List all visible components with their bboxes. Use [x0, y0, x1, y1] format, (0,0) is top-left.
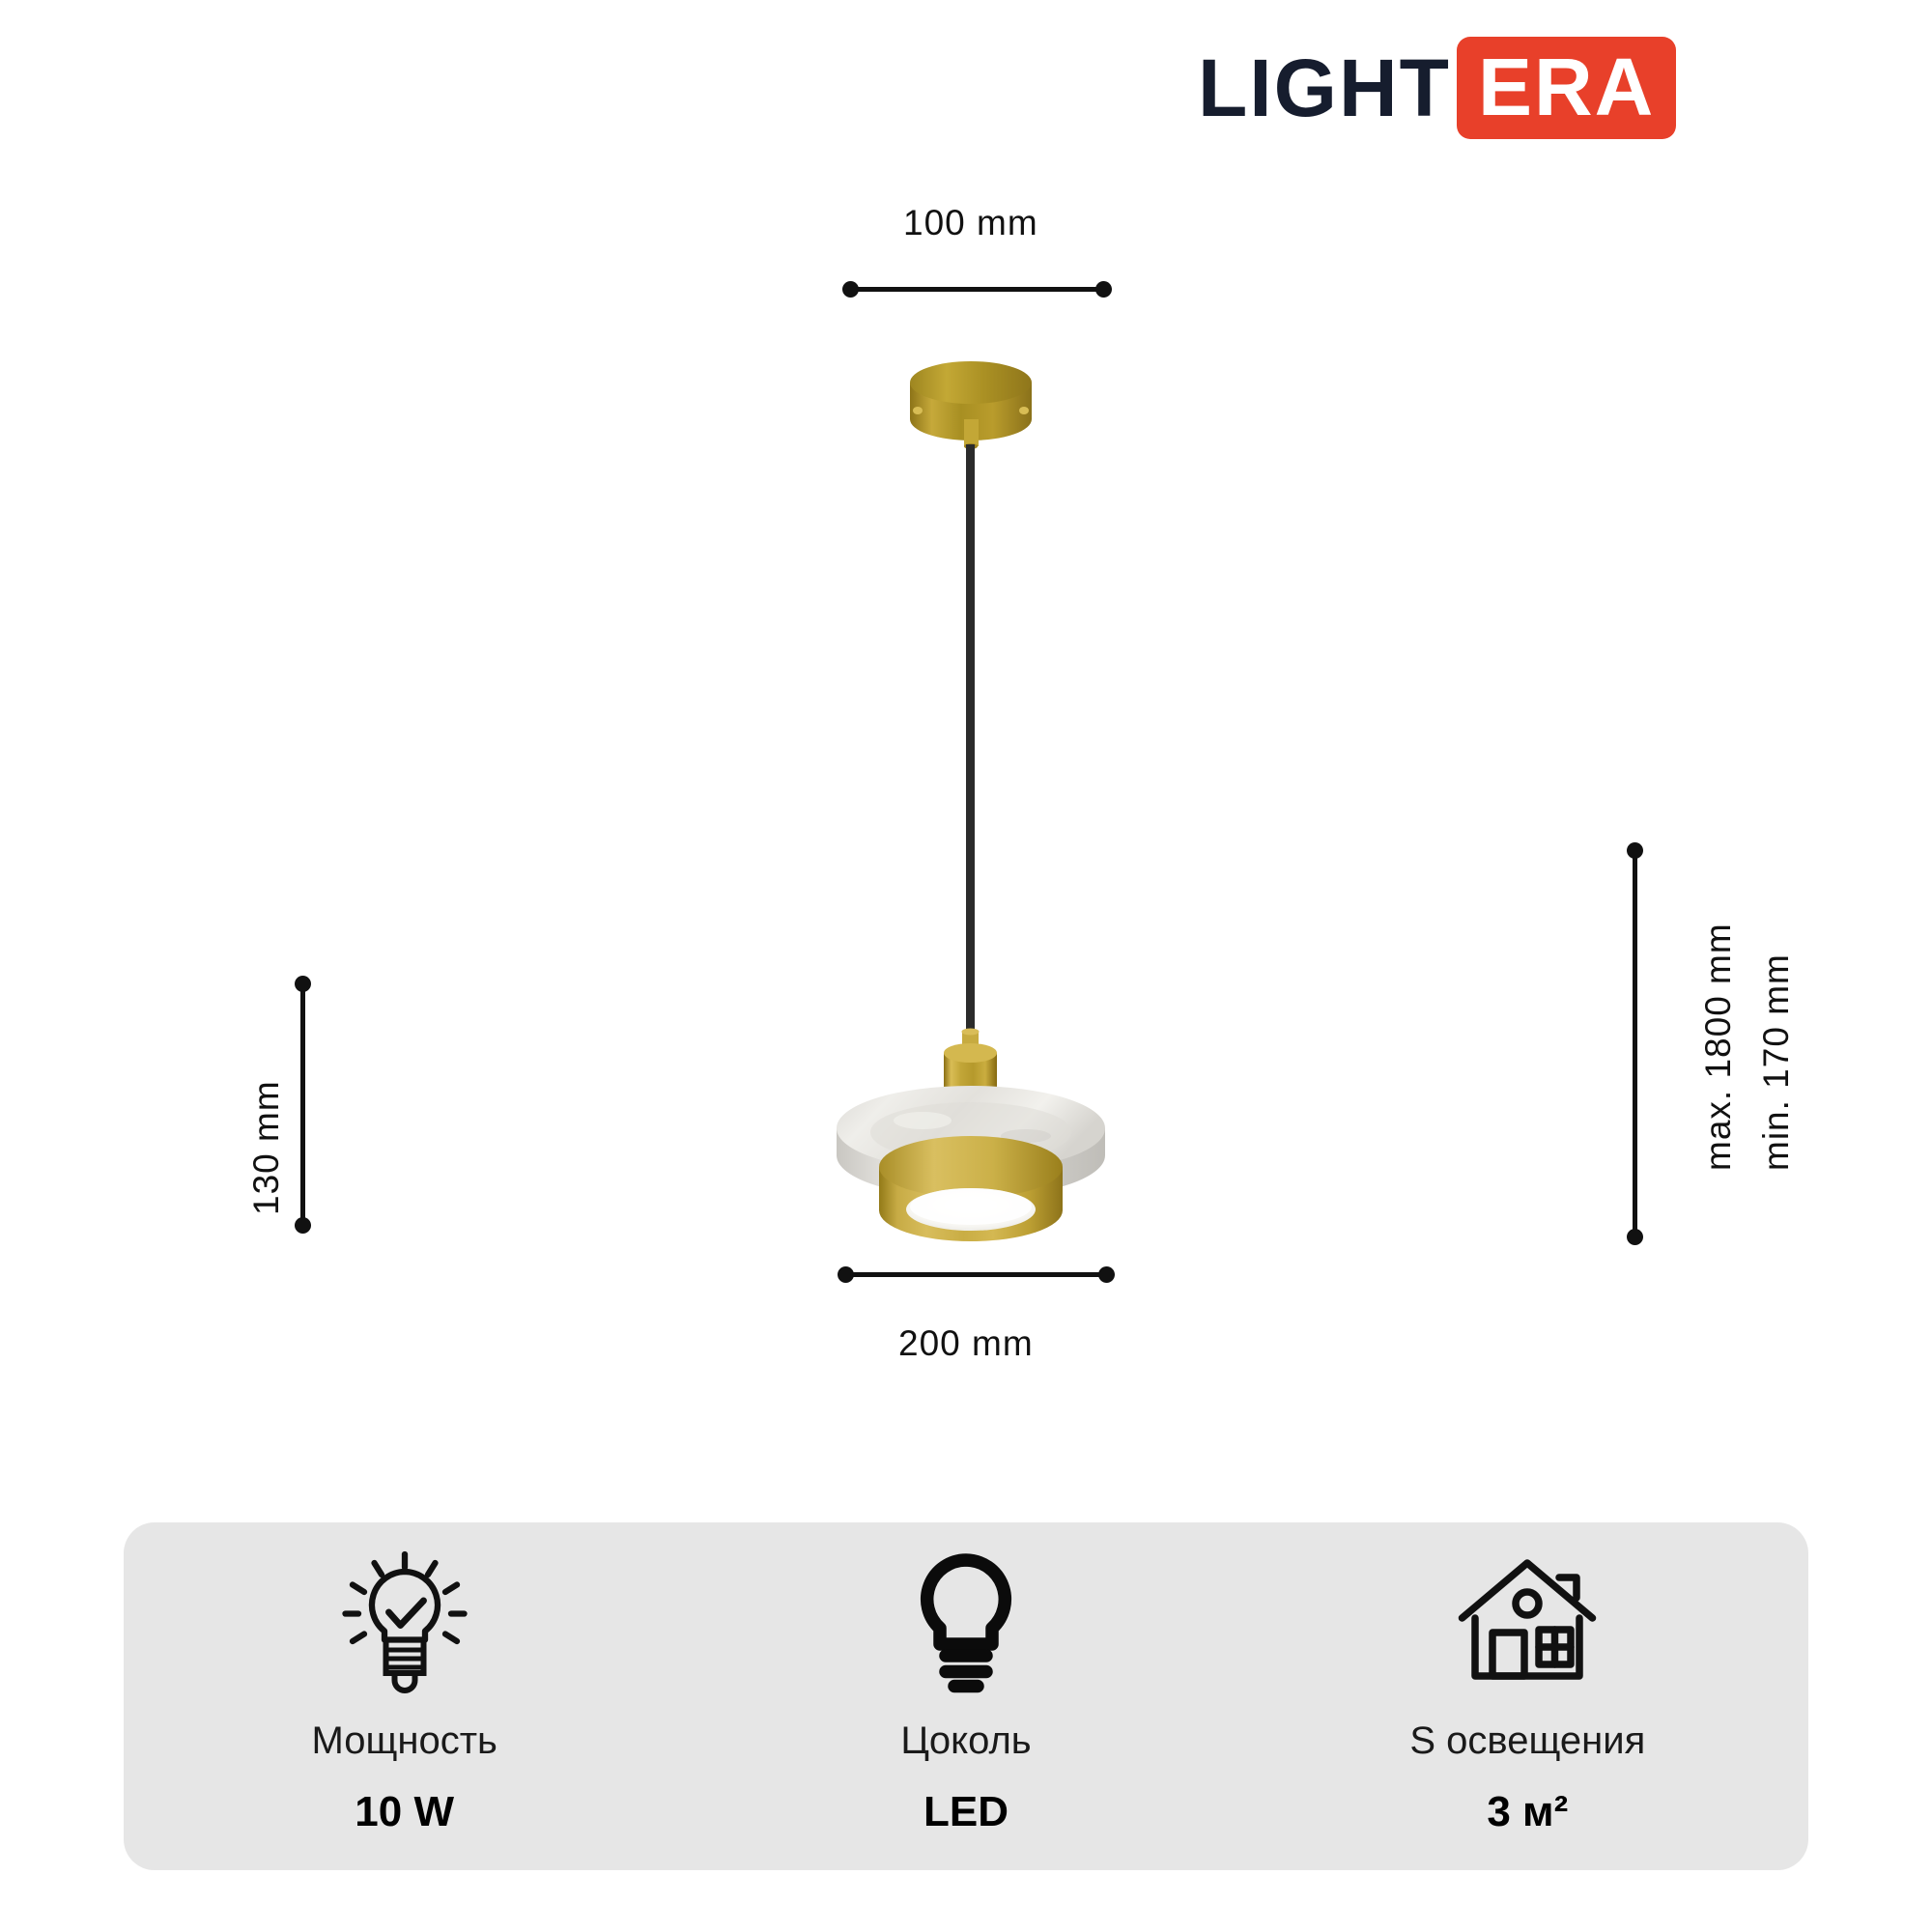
dimension-dot-right-top [1627, 842, 1643, 859]
dimension-label-shade-height: 130 mm [246, 1080, 287, 1215]
stone-disc [837, 1086, 1105, 1198]
dimension-dot-bottom-right [1098, 1266, 1115, 1283]
light-diffuser [906, 1188, 1036, 1231]
spec-value-area: 3 м² [1487, 1788, 1568, 1836]
lamp-stem [944, 1029, 997, 1139]
logo-text-era: ERA [1478, 46, 1655, 128]
spec-title-socket: Цоколь [900, 1719, 1031, 1763]
dimension-label-bottom-width: 200 mm [898, 1323, 1034, 1364]
cord-grip [964, 419, 979, 446]
logo-text-light: LIGHT [1198, 47, 1457, 128]
spec-title-power: Мощность [311, 1719, 497, 1763]
dimension-line-drop [1633, 850, 1637, 1236]
dimension-label-drop-min: min. 170 mm [1756, 953, 1797, 1171]
suspension-cord [966, 444, 975, 1043]
spec-value-socket: LED [923, 1788, 1009, 1836]
spec-title-area: S освещения [1409, 1719, 1645, 1763]
spec-column-socket: Цоколь LED [686, 1544, 1247, 1836]
dimension-label-top-width: 100 mm [903, 203, 1038, 243]
dimension-dot-left-bottom [295, 1217, 311, 1234]
dimension-dot-bottom-left [838, 1266, 854, 1283]
house-icon [1451, 1544, 1604, 1698]
brass-ring [879, 1136, 1063, 1241]
dimension-line-top-width [850, 287, 1103, 292]
bulb-check-icon [332, 1544, 477, 1698]
dimension-dot-top-left [842, 281, 859, 298]
dimension-label-drop-max: max. 1800 mm [1698, 923, 1739, 1171]
spec-column-area: S освещения 3 м² [1247, 1544, 1808, 1836]
specifications-panel: Мощность 10 W Цоколь LED [124, 1522, 1808, 1870]
dimension-dot-left-top [295, 976, 311, 992]
brand-logo: LIGHT ERA [1198, 37, 1676, 139]
dimension-line-bottom-width [845, 1272, 1106, 1277]
dimension-dot-right-bottom [1627, 1229, 1643, 1245]
dimension-line-shade-height [300, 983, 305, 1225]
dimension-dot-top-right [1095, 281, 1112, 298]
spec-value-power: 10 W [355, 1788, 454, 1836]
ceiling-canopy [910, 361, 1032, 440]
bulb-icon [894, 1544, 1038, 1698]
spec-column-power: Мощность 10 W [124, 1544, 685, 1836]
logo-badge-era: ERA [1457, 37, 1676, 139]
